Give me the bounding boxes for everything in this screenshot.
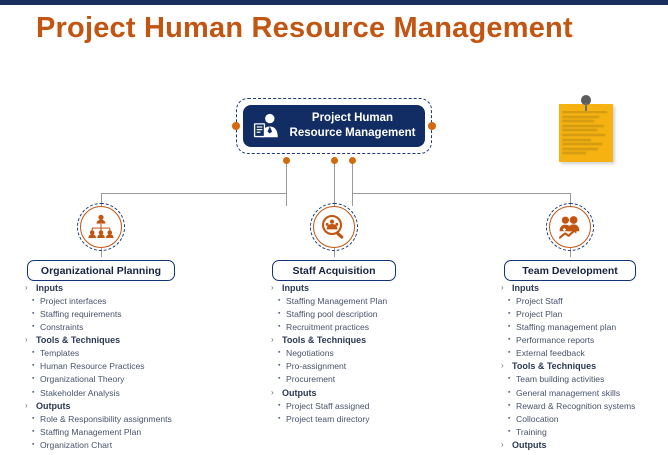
square-bullet-icon: ▪ [24,426,40,439]
sticky-note-text [562,111,610,158]
branch-staff-acquisition[interactable]: Staff Acquisition [272,203,396,281]
branch-label-1: Organizational Planning [41,265,161,277]
square-bullet-icon: ▪ [24,360,40,373]
list-item-label: Templates [40,347,79,360]
people-growth-arrow-icon [556,214,584,240]
branch-label-2: Staff Acquisition [292,265,375,277]
chevron-right-icon: › [24,282,36,294]
square-bullet-icon: ▪ [270,347,286,360]
pushpin-icon [581,95,591,105]
list-item-label: Project team directory [286,413,370,426]
list-item: ▪Organizational Theory [24,373,249,386]
square-bullet-icon: ▪ [24,413,40,426]
chevron-right-icon: › [24,400,36,412]
branch-icon-wrap-2 [310,203,358,251]
square-bullet-icon: ▪ [500,347,516,360]
branch-label-3: Team Development [522,265,618,277]
list-item-label: Organizational Theory [40,373,124,386]
branch-icon-wrap-3 [546,203,594,251]
sticky-note[interactable] [559,104,613,162]
square-bullet-icon: ▪ [500,373,516,386]
group-title: Inputs [36,282,63,294]
branch-organizational-planning[interactable]: Organizational Planning [27,203,175,281]
group-heading: ›Inputs [24,282,249,294]
list-item: ▪Human Resource Practices [24,360,249,373]
list-item-label: Project Staff assigned [286,400,369,413]
square-bullet-icon: ▪ [270,360,286,373]
square-bullet-icon: ▪ [500,413,516,426]
list-item-label: Training [516,426,547,439]
list-item: ▪Collocation [500,413,668,426]
list-item-label: Collocation [516,413,559,426]
list-item-label: Role & Responsibility assignments [40,413,172,426]
connector-bar-left [101,193,287,194]
list-item: ▪External feedback [500,347,668,360]
list-item-label: Staffing management plan [516,321,616,334]
list-item: ▪Staffing management plan [500,321,668,334]
list-item: ▪Staffing Management Plan [24,426,249,439]
central-node-dot-left [232,122,240,130]
list-item: ▪Training [500,426,668,439]
group-title: Outputs [282,387,317,399]
list-item: ▪Procurement [270,373,490,386]
group-heading: ›Tools & Techniques [500,360,668,372]
list-item: ▪Performance reports [500,334,668,347]
chevron-right-icon: › [500,282,512,294]
list-item-label: Project Staff [516,295,563,308]
org-chart-people-icon [87,214,115,240]
chevron-right-icon: › [24,334,36,346]
branch-label-box-2[interactable]: Staff Acquisition [272,260,396,281]
central-node-label: Project Human Resource Management [286,111,425,141]
detail-list-staff-acquisition: ›Inputs▪Staffing Management Plan▪Staffin… [270,282,490,426]
square-bullet-icon: ▪ [270,295,286,308]
list-item: ▪Project interfaces [24,295,249,308]
list-item-label: Recruitment practices [286,321,369,334]
list-item: ▪Staffing requirements [24,308,249,321]
page-title: Project Human Resource Management [36,12,636,45]
list-item: ▪Project Staff [500,295,668,308]
group-heading: ›Inputs [500,282,668,294]
list-item: ▪Pro-assignment [270,360,490,373]
list-item-label: Human Resource Practices [40,360,145,373]
square-bullet-icon: ▪ [500,426,516,439]
list-item-label: Organization Chart [40,439,112,452]
list-item: ▪Organization Chart [24,439,249,452]
group-heading: ›Tools & Techniques [24,334,249,346]
list-item: ▪Templates [24,347,249,360]
group-heading: ›Tools & Techniques [270,334,490,346]
list-item-label: Staffing Management Plan [40,426,141,439]
people-magnifier-icon [320,214,348,240]
square-bullet-icon: ▪ [24,373,40,386]
central-node-dot-right [428,122,436,130]
stem-dot-right [349,157,356,164]
list-item-label: External feedback [516,347,585,360]
list-item-label: Constraints [40,321,83,334]
list-item-label: Team building activities [516,373,604,386]
square-bullet-icon: ▪ [500,334,516,347]
person-with-clipboard-icon [252,112,282,140]
square-bullet-icon: ▪ [24,308,40,321]
branch-solid-ring-3 [549,206,591,248]
list-item: ▪Staffing Management Plan [270,295,490,308]
square-bullet-icon: ▪ [500,308,516,321]
group-title: Tools & Techniques [282,334,366,346]
list-item: ▪Role & Responsibility assignments [24,413,249,426]
list-item-label: Staffing pool description [286,308,378,321]
square-bullet-icon: ▪ [270,413,286,426]
chevron-right-icon: › [270,282,282,294]
list-item-label: Project Plan [516,308,562,321]
branch-team-development[interactable]: Team Development [504,203,636,281]
list-item: ▪Negotiations [270,347,490,360]
list-item-label: Procurement [286,373,335,386]
branch-label-box-3[interactable]: Team Development [504,260,636,281]
list-item: ▪Recruitment practices [270,321,490,334]
stem-dot-center [331,157,338,164]
list-item-label: Negotiations [286,347,334,360]
group-title: Inputs [512,282,539,294]
detail-list-organizational-planning: ›Inputs▪Project interfaces▪Staffing requ… [24,282,249,455]
chevron-right-icon: › [270,334,282,346]
central-node[interactable]: Project Human Resource Management [236,98,432,154]
group-title: Tools & Techniques [512,360,596,372]
group-heading: ›Outputs [270,387,490,399]
list-item: ▪General management skills [500,387,668,400]
group-title: Outputs [36,400,71,412]
list-item: ▪Constraints [24,321,249,334]
branch-label-box-1[interactable]: Organizational Planning [27,260,175,281]
connector-stem-left [286,162,287,206]
branch-solid-ring-1 [80,206,122,248]
square-bullet-icon: ▪ [24,439,40,452]
chevron-right-icon: › [500,439,512,451]
connector-stem-right [352,162,353,206]
square-bullet-icon: ▪ [270,373,286,386]
list-item: ▪Project team directory [270,413,490,426]
list-item-label: Stakeholder Analysis [40,387,120,400]
group-heading: ›Inputs [270,282,490,294]
square-bullet-icon: ▪ [270,400,286,413]
connector-bar-right [352,193,570,194]
group-title: Tools & Techniques [36,334,120,346]
branch-solid-ring-2 [313,206,355,248]
group-title: Outputs [512,439,547,451]
list-item-label: Staffing Management Plan [286,295,387,308]
group-heading: ›Outputs [500,439,668,451]
list-item-label: Reward & Recognition systems [516,400,635,413]
branch-icon-wrap-1 [77,203,125,251]
list-item: ▪Project Staff assigned [270,400,490,413]
stem-dot-left [283,157,290,164]
list-item: ▪Reward & Recognition systems [500,400,668,413]
square-bullet-icon: ▪ [24,387,40,400]
slide-canvas: Project Human Resource Management Projec… [0,0,668,455]
list-item: ▪Team building activities [500,373,668,386]
square-bullet-icon: ▪ [24,347,40,360]
group-heading: ›Outputs [24,400,249,412]
square-bullet-icon: ▪ [270,308,286,321]
list-item: ▪Stakeholder Analysis [24,387,249,400]
chevron-right-icon: › [500,360,512,372]
list-item-label: Pro-assignment [286,360,346,373]
square-bullet-icon: ▪ [24,295,40,308]
central-node-box[interactable]: Project Human Resource Management [243,105,425,147]
group-title: Inputs [282,282,309,294]
square-bullet-icon: ▪ [270,321,286,334]
detail-list-team-development: ›Inputs▪Project Staff▪Project Plan▪Staff… [500,282,668,455]
square-bullet-icon: ▪ [500,400,516,413]
square-bullet-icon: ▪ [500,321,516,334]
square-bullet-icon: ▪ [500,295,516,308]
square-bullet-icon: ▪ [24,321,40,334]
chevron-right-icon: › [270,387,282,399]
list-item-label: Project interfaces [40,295,106,308]
list-item-label: Staffing requirements [40,308,122,321]
square-bullet-icon: ▪ [500,387,516,400]
list-item-label: Performance reports [516,334,594,347]
list-item: ▪Project Plan [500,308,668,321]
list-item: ▪Staffing pool description [270,308,490,321]
top-accent-bar [0,0,668,5]
list-item-label: General management skills [516,387,620,400]
